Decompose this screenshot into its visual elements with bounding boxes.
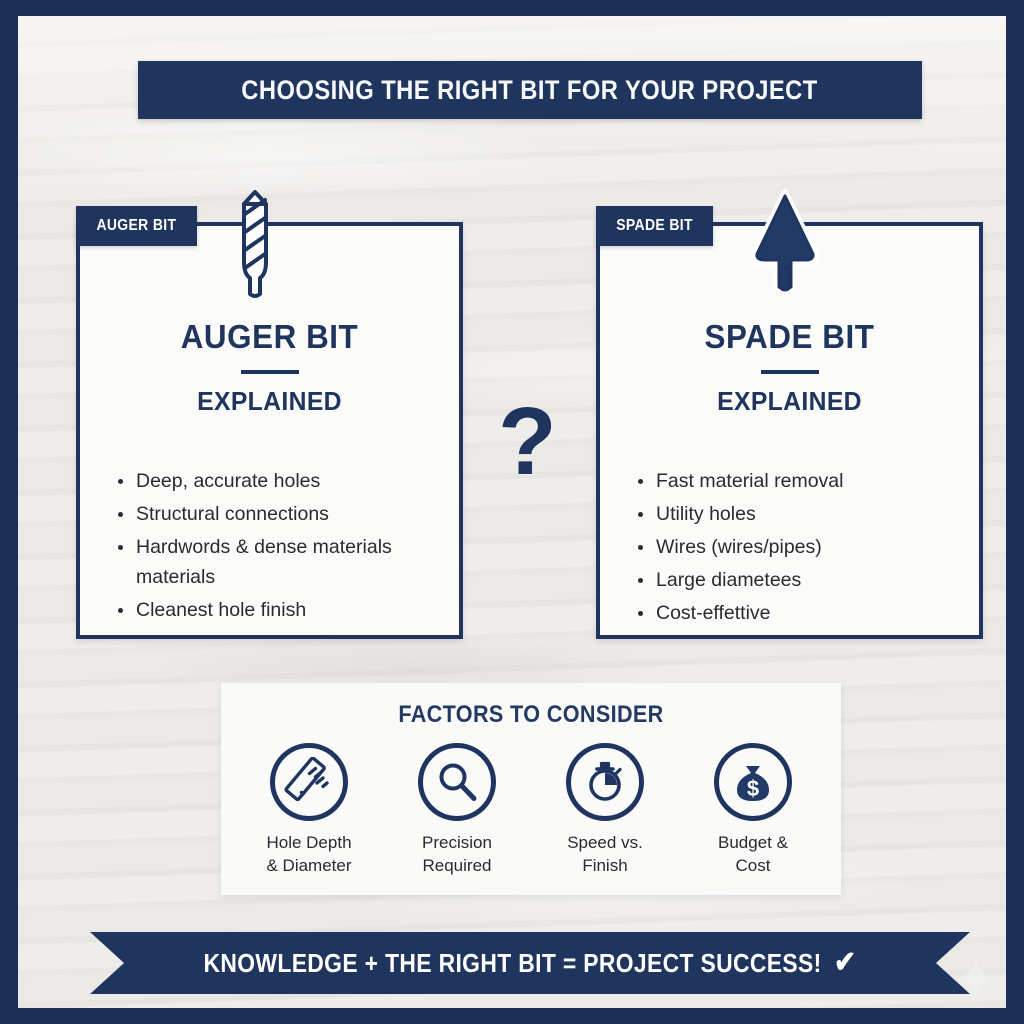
stopwatch-icon <box>566 743 644 821</box>
spade-bit-icon <box>748 188 822 305</box>
factor-speed: Speed vs. Finish <box>540 743 670 877</box>
question-mark: ? <box>498 394 557 490</box>
factor-label-line2: Cost <box>736 856 771 875</box>
card-tab-spade-bit: SPADE BIT <box>596 206 713 246</box>
factor-budget: $ Budget & Cost <box>688 743 818 877</box>
card-heading-spade: SPADE BIT EXPLAINED <box>600 318 979 417</box>
factor-label-line1: Speed vs. <box>567 833 643 852</box>
svg-text:$: $ <box>747 776 759 801</box>
bullet-list-auger: Deep, accurate holes Structural connecti… <box>114 466 441 628</box>
factor-label-line1: Hole Depth <box>266 833 351 852</box>
list-item: Utility holes <box>634 499 961 529</box>
factor-label-budget: Budget & Cost <box>688 831 818 877</box>
factor-precision: Precision Required <box>392 743 522 877</box>
list-item: Cleanest hole finish <box>114 595 441 625</box>
magnifier-icon <box>418 743 496 821</box>
factor-label-line2: Required <box>423 856 492 875</box>
list-item: Deep, accurate holes <box>114 466 441 496</box>
factor-label-hole-depth: Hole Depth & Diameter <box>244 831 374 877</box>
sparkle-icon <box>953 956 999 1002</box>
page-title-bar: CHOOSING THE RIGHT BIT FOR YOUR PROJECT <box>138 61 922 119</box>
card-tab-auger-bit: AUGER BIT <box>76 206 197 246</box>
factor-label-speed: Speed vs. Finish <box>540 831 670 877</box>
factor-label-line2: Finish <box>582 856 627 875</box>
list-item: Fast material removal <box>634 466 961 496</box>
card-title-auger: AUGER BIT <box>89 318 449 356</box>
list-item: Structural connections <box>114 499 441 529</box>
list-item: Cost-effettive <box>634 598 961 628</box>
footer-text-wrap: KNOWLEDGE + THE RIGHT BIT = PROJECT SUCC… <box>204 948 857 979</box>
factor-label-line2: & Diameter <box>266 856 351 875</box>
factors-title: FACTORS TO CONSIDER <box>252 701 810 729</box>
ruler-icon <box>270 743 348 821</box>
infographic-board: CHOOSING THE RIGHT BIT FOR YOUR PROJECT … <box>18 16 1006 1008</box>
outer-frame: CHOOSING THE RIGHT BIT FOR YOUR PROJECT … <box>0 0 1024 1024</box>
check-icon: ✔ <box>834 948 856 978</box>
bullet-list-spade: Fast material removal Utility holes Wire… <box>634 466 961 631</box>
card-heading-auger: AUGER BIT EXPLAINED <box>80 318 459 417</box>
list-item: Large diametees <box>634 565 961 595</box>
footer-text: KNOWLEDGE + THE RIGHT BIT = PROJECT SUCC… <box>204 948 822 979</box>
page-title: CHOOSING THE RIGHT BIT FOR YOUR PROJECT <box>242 75 818 106</box>
card-subtitle-auger: EXPLAINED <box>89 386 449 417</box>
factors-row: Hole Depth & Diameter P <box>221 743 841 877</box>
card-title-spade: SPADE BIT <box>609 318 969 356</box>
list-item: Wires (wires/pipes) <box>634 532 961 562</box>
footer-ribbon: KNOWLEDGE + THE RIGHT BIT = PROJECT SUCC… <box>90 932 970 994</box>
card-subtitle-spade: EXPLAINED <box>609 386 969 417</box>
factor-label-line1: Precision <box>422 833 492 852</box>
card-tab-label-auger: AUGER BIT <box>96 217 176 235</box>
list-item: Hardwords & dense materials materials <box>114 532 441 592</box>
card-tab-label-spade: SPADE BIT <box>616 217 693 235</box>
factors-panel: FACTORS TO CONSIDER <box>221 683 841 895</box>
divider-rule <box>241 370 299 374</box>
factor-hole-depth: Hole Depth & Diameter <box>244 743 374 877</box>
money-bag-icon: $ <box>714 743 792 821</box>
auger-drill-bit-icon <box>224 188 286 305</box>
factor-label-precision: Precision Required <box>392 831 522 877</box>
divider-rule <box>761 370 819 374</box>
factor-label-line1: Budget & <box>718 833 788 852</box>
